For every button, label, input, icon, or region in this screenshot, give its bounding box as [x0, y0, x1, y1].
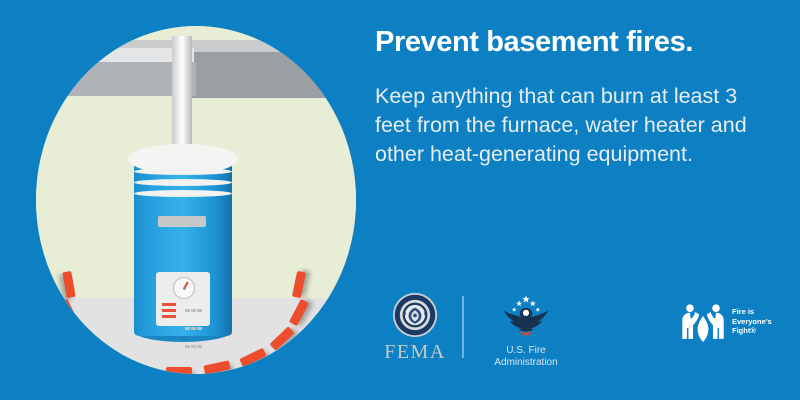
usfa-logo[interactable]: U.S. Fire Administration	[476, 294, 576, 369]
clearance-dash	[62, 271, 75, 298]
logo-bar: FEMA U.S. Fire Administration	[370, 292, 790, 372]
feff-line2: Everyone's	[732, 317, 772, 327]
tank-band	[134, 190, 232, 197]
clearance-dash	[203, 360, 230, 374]
usfa-caption-line2: Administration	[476, 357, 576, 369]
fema-logo[interactable]: FEMA	[370, 292, 460, 364]
clearance-dash	[239, 348, 266, 367]
poster-canvas: Prevent basement fires. Keep anything th…	[0, 0, 800, 400]
dhs-seal	[392, 292, 438, 338]
clearance-dash	[91, 348, 118, 368]
feff-line1: Fire is	[732, 307, 772, 317]
clearance-dash	[125, 362, 152, 374]
clearance-dash	[69, 326, 94, 351]
ceiling-duct	[186, 52, 356, 98]
dashed-clearance-ring	[64, 266, 314, 374]
tank-band	[134, 179, 232, 186]
fema-wordmark: FEMA	[370, 341, 460, 364]
clearance-dash	[270, 326, 295, 351]
feff-line3: Fight®	[732, 326, 772, 336]
fire-is-everyones-fight-logo[interactable]: Fire is Everyone's Fight®	[680, 300, 790, 350]
usfa-caption-line1: U.S. Fire	[476, 345, 576, 357]
logo-divider	[462, 296, 464, 358]
illustration-circle	[36, 26, 356, 374]
clearance-dash	[289, 299, 309, 326]
water-heater-clearance-illustration	[22, 18, 362, 382]
page-title: Prevent basement fires.	[375, 26, 785, 59]
tank-label-plate	[158, 216, 206, 227]
clearance-dash	[166, 367, 192, 374]
clearance-dash	[292, 271, 306, 298]
usfa-eagle-icon	[495, 294, 557, 338]
usfa-caption: U.S. Fire Administration	[476, 345, 576, 369]
body-copy: Keep anything that can burn at least 3 f…	[375, 82, 775, 169]
fire-is-everyones-fight-text: Fire is Everyone's Fight®	[732, 307, 772, 336]
tank-band	[134, 168, 232, 175]
fire-is-everyones-fight-figures-icon	[680, 300, 726, 344]
